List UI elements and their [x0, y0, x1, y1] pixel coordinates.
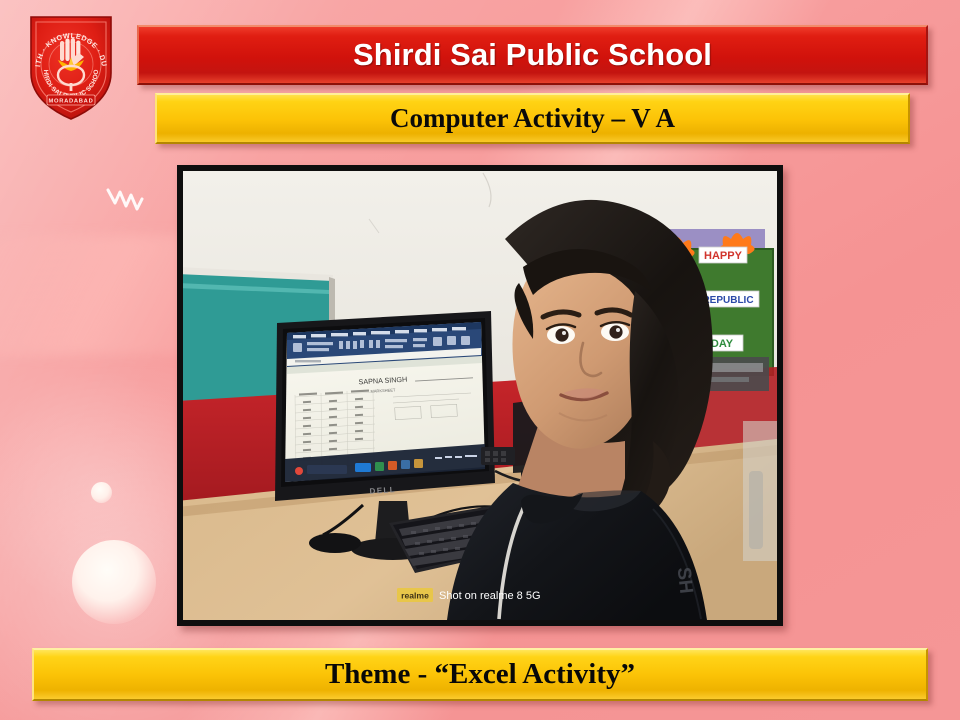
dell-brand-label: DELL	[369, 485, 396, 496]
glow-circle-small-decoration	[91, 482, 112, 503]
presentation-slide: FAITH · KNOWLEDGE · DUTY SHIRDI SAI PUBL…	[0, 0, 960, 720]
school-title-banner: Shirdi Sai Public School	[137, 25, 928, 85]
photo-frame: HAPPY REPUBLIC DAY	[177, 165, 783, 626]
realme-watermark-text: Shot on realme 8 5G	[439, 590, 541, 602]
theme-text: Theme - “Excel Activity”	[325, 658, 635, 691]
school-title-text: Shirdi Sai Public School	[353, 37, 712, 73]
crest-hand-flame-emblem	[58, 38, 84, 91]
school-crest-logo: FAITH · KNOWLEDGE · DUTY SHIRDI SAI PUBL…	[22, 7, 120, 125]
classroom-computer-activity-photo: HAPPY REPUBLIC DAY	[183, 171, 777, 620]
activity-subtitle-banner: Computer Activity – V A	[155, 93, 910, 144]
glow-circle-large-decoration	[72, 540, 156, 624]
svg-text:DAY: DAY	[711, 338, 734, 350]
jacket-logo-text: SH	[673, 566, 697, 594]
activity-subtitle-text: Computer Activity – V A	[390, 103, 675, 134]
realme-watermark: realme Shot on realme 8 5G	[397, 588, 541, 602]
zigzag-squiggle-decoration	[106, 186, 146, 220]
crest-city-text: MORADABAD	[49, 99, 94, 105]
realme-badge-text: realme	[401, 590, 429, 600]
svg-text:REPUBLIC: REPUBLIC	[702, 295, 753, 306]
theme-banner: Theme - “Excel Activity”	[32, 648, 928, 701]
right-wall-and-chair	[743, 421, 777, 561]
svg-text:HAPPY: HAPPY	[704, 250, 743, 262]
